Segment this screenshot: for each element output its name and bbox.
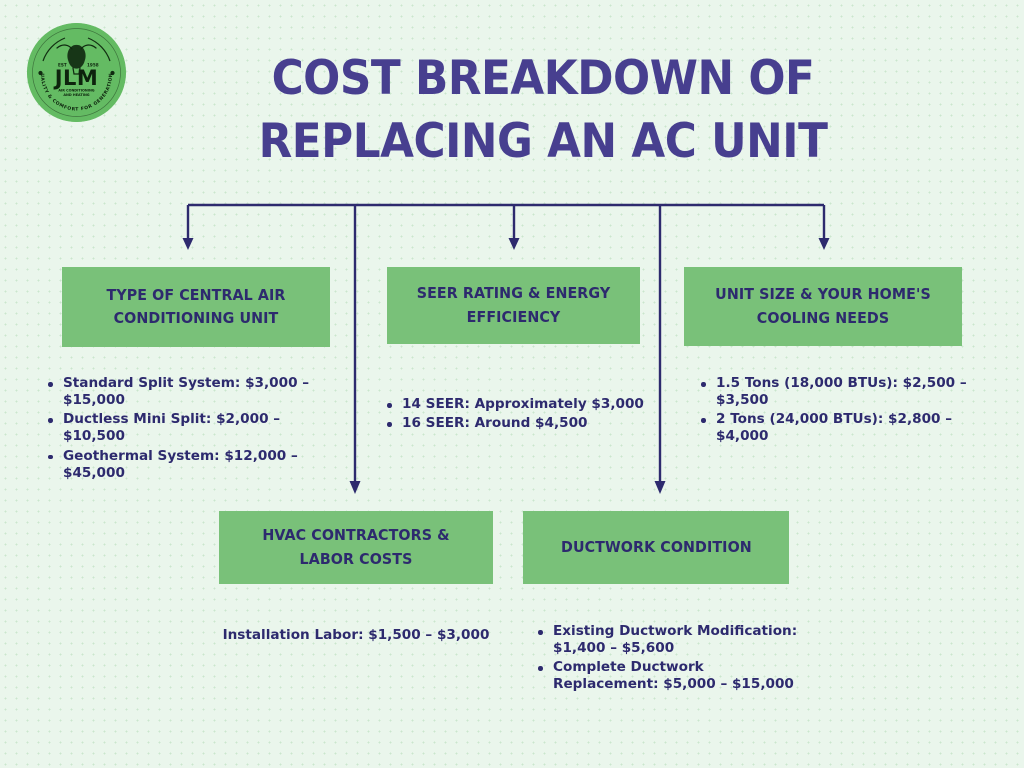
node-box-seer-rating[interactable]: SEER RATING & ENERGY EFFICIENCY bbox=[387, 267, 640, 344]
node-box-unit-size[interactable]: UNIT SIZE & YOUR HOME'S COOLING NEEDS bbox=[684, 267, 962, 346]
page-title: COST BREAKDOWN OF REPLACING AN AC UNIT bbox=[176, 48, 911, 174]
node-box-ductwork-condition[interactable]: DUCTWORK CONDITION bbox=[523, 511, 789, 584]
detail-note-labor-costs: Installation Labor: $1,500 – $3,000 bbox=[196, 627, 516, 644]
arrowhead-5 bbox=[655, 481, 666, 494]
list-item: Ductless Mini Split: $2,000 – $10,500 bbox=[44, 411, 344, 445]
jlm-logo-mark: EST 1958 JLM AIR CONDITIONING AND HEATIN… bbox=[27, 23, 126, 122]
list-item: 1.5 Tons (18,000 BTUs): $2,500 – $3,500 bbox=[697, 375, 967, 409]
detail-list-seer-rating: 14 SEER: Approximately $3,000 16 SEER: A… bbox=[383, 396, 653, 434]
detail-list-unit-size: 1.5 Tons (18,000 BTUs): $2,500 – $3,500 … bbox=[697, 375, 967, 448]
list-item: 16 SEER: Around $4,500 bbox=[383, 415, 653, 432]
list-item: Existing Ductwork Modification: $1,400 –… bbox=[534, 623, 804, 657]
list-item: 14 SEER: Approximately $3,000 bbox=[383, 396, 653, 413]
detail-list-ductwork-condition: Existing Ductwork Modification: $1,400 –… bbox=[534, 623, 804, 696]
list-item: Geothermal System: $12,000 – $45,000 bbox=[44, 448, 344, 482]
node-title: SEER RATING & ENERGY EFFICIENCY bbox=[407, 282, 621, 329]
logo-tagline-top: AIR CONDITIONING bbox=[58, 89, 94, 93]
detail-list-type-of-unit: Standard Split System: $3,000 – $15,000 … bbox=[44, 375, 344, 484]
node-title: DUCTWORK CONDITION bbox=[561, 536, 752, 559]
jlm-logo: EST 1958 JLM AIR CONDITIONING AND HEATIN… bbox=[27, 23, 126, 122]
infographic-canvas: EST 1958 JLM AIR CONDITIONING AND HEATIN… bbox=[0, 0, 1024, 768]
arrowhead-4 bbox=[350, 481, 361, 494]
list-item: Complete Ductwork Replacement: $5,000 – … bbox=[534, 659, 804, 693]
node-title: TYPE OF CENTRAL AIR CONDITIONING UNIT bbox=[82, 284, 310, 331]
node-title: HVAC CONTRACTORS & LABOR COSTS bbox=[239, 524, 473, 571]
node-box-type-of-unit[interactable]: TYPE OF CENTRAL AIR CONDITIONING UNIT bbox=[62, 267, 330, 347]
node-title: UNIT SIZE & YOUR HOME'S COOLING NEEDS bbox=[704, 283, 942, 330]
arrowhead-3 bbox=[819, 238, 830, 250]
arrowhead-1 bbox=[183, 238, 194, 250]
logo-tagline-bottom: AND HEATING bbox=[63, 93, 89, 97]
logo-brand: JLM bbox=[53, 66, 99, 90]
list-item: 2 Tons (24,000 BTUs): $2,800 – $4,000 bbox=[697, 411, 967, 445]
list-item: Standard Split System: $3,000 – $15,000 bbox=[44, 375, 344, 409]
arrowhead-2 bbox=[509, 238, 520, 250]
node-box-labor-costs[interactable]: HVAC CONTRACTORS & LABOR COSTS bbox=[219, 511, 493, 584]
